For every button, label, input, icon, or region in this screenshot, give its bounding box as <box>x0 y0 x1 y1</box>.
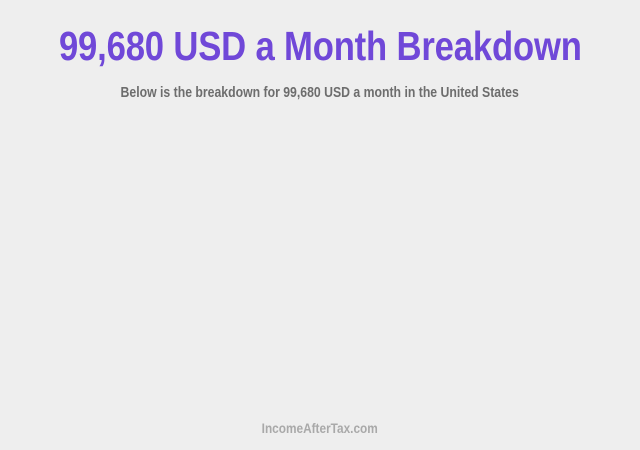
breakdown-content-area <box>0 118 640 410</box>
site-brand-text: IncomeAfterTax.com <box>262 419 378 437</box>
page-root: 99,680 USD a Month Breakdown Below is th… <box>0 0 640 450</box>
page-title: 99,680 USD a Month Breakdown <box>0 22 640 70</box>
site-brand-label: IncomeAfterTax.com <box>251 420 388 436</box>
page-title-text: 99,680 USD a Month Breakdown <box>59 22 582 70</box>
page-subtitle-text: Below is the breakdown for 99,680 USD a … <box>121 84 519 102</box>
page-footer: IncomeAfterTax.com <box>0 419 640 438</box>
page-subtitle: Below is the breakdown for 99,680 USD a … <box>0 84 640 102</box>
